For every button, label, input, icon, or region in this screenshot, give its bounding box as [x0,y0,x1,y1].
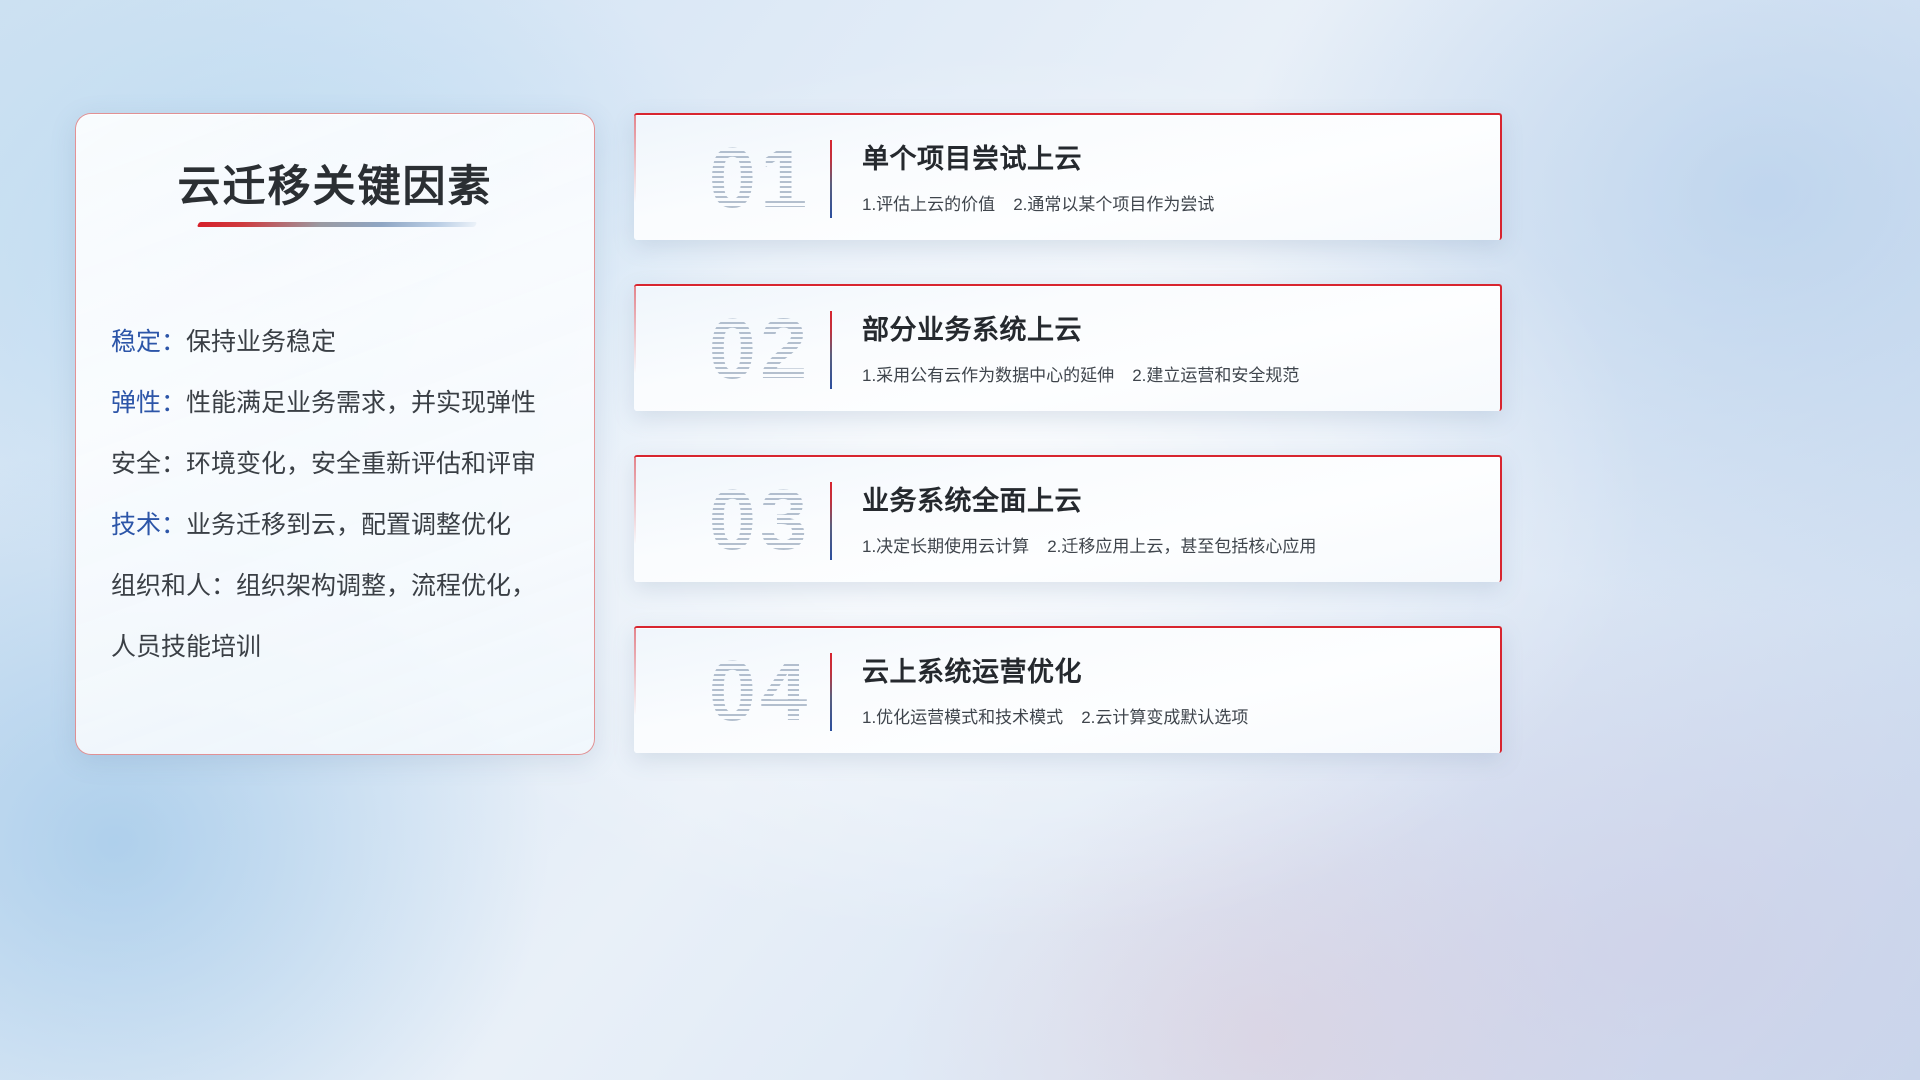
factor-text: 人员技能培训 [111,633,261,661]
stage-number-ghost: 02 [662,292,858,408]
card-divider [830,311,832,389]
page-title: 云迁移关键因素 [76,152,594,214]
card-point-2: 2.建立运营和安全规范 [1132,366,1299,385]
stage-card-04[interactable]: 04 云上系统运营优化 1.优化运营模式和技术模式2.云计算变成默认选项 [634,626,1502,753]
card-point-1: 1.采用公有云作为数据中心的延伸 [862,366,1114,385]
card-subtext: 1.评估上云的价值2.通常以某个项目作为尝试 [862,190,1476,215]
card-point-1: 1.评估上云的价值 [862,195,995,214]
factor-item: 人员技能培训 [111,617,572,678]
card-body: 云上系统运营优化 1.优化运营模式和技术模式2.云计算变成默认选项 [862,650,1476,728]
stage-number-ghost: 01 [662,121,858,237]
stage-card-03[interactable]: 03 业务系统全面上云 1.决定长期使用云计算2.迁移应用上云，甚至包括核心应用 [634,455,1502,582]
card-body: 业务系统全面上云 1.决定长期使用云计算2.迁移应用上云，甚至包括核心应用 [862,479,1476,557]
card-title: 云上系统运营优化 [862,650,1476,689]
factor-list: 稳定：保持业务稳定 弹性：性能满足业务需求，并实现弹性 安全：环境变化，安全重新… [111,312,572,678]
factor-key: 安全： [111,450,186,478]
factor-item: 技术：业务迁移到云，配置调整优化 [111,495,572,556]
card-subtext: 1.优化运营模式和技术模式2.云计算变成默认选项 [862,703,1476,728]
card-divider [830,482,832,560]
factor-text: 组织架构调整，流程优化， [236,572,536,600]
card-subtext: 1.采用公有云作为数据中心的延伸2.建立运营和安全规范 [862,361,1476,386]
card-title: 部分业务系统上云 [862,308,1476,347]
card-body: 部分业务系统上云 1.采用公有云作为数据中心的延伸2.建立运营和安全规范 [862,308,1476,386]
factor-item: 弹性：性能满足业务需求，并实现弹性 [111,373,572,434]
title-underline-rule [197,222,477,227]
card-body: 单个项目尝试上云 1.评估上云的价值2.通常以某个项目作为尝试 [862,137,1476,215]
card-title: 单个项目尝试上云 [862,137,1476,176]
card-divider [830,653,832,731]
card-title: 业务系统全面上云 [862,479,1476,518]
stage-card-02[interactable]: 02 部分业务系统上云 1.采用公有云作为数据中心的延伸2.建立运营和安全规范 [634,284,1502,411]
factor-text: 环境变化，安全重新评估和评审 [186,450,536,478]
factor-key: 组织和人： [111,572,236,600]
stage-card-list: 01 单个项目尝试上云 1.评估上云的价值2.通常以某个项目作为尝试 02 部分… [634,113,1502,797]
card-point-1: 1.决定长期使用云计算 [862,537,1029,556]
card-point-2: 2.迁移应用上云，甚至包括核心应用 [1047,537,1316,556]
card-point-2: 2.通常以某个项目作为尝试 [1013,195,1214,214]
factor-item: 安全：环境变化，安全重新评估和评审 [111,434,572,495]
factor-key: 技术： [111,511,186,539]
factor-text: 业务迁移到云，配置调整优化 [186,511,511,539]
card-divider [830,140,832,218]
factor-item: 组织和人：组织架构调整，流程优化， [111,556,572,617]
key-factors-panel: 云迁移关键因素 稳定：保持业务稳定 弹性：性能满足业务需求，并实现弹性 安全：环… [75,113,595,755]
stage-number-ghost: 03 [662,463,858,579]
card-point-2: 2.云计算变成默认选项 [1081,708,1248,727]
factor-item: 稳定：保持业务稳定 [111,312,572,373]
factor-text: 性能满足业务需求，并实现弹性 [186,389,536,417]
card-subtext: 1.决定长期使用云计算2.迁移应用上云，甚至包括核心应用 [862,532,1476,557]
factor-key: 稳定： [111,328,186,356]
factor-text: 保持业务稳定 [186,328,336,356]
card-point-1: 1.优化运营模式和技术模式 [862,708,1063,727]
factor-key: 弹性： [111,389,186,417]
stage-number-ghost: 04 [662,634,858,750]
stage-card-01[interactable]: 01 单个项目尝试上云 1.评估上云的价值2.通常以某个项目作为尝试 [634,113,1502,240]
slide-canvas: 云迁移关键因素 稳定：保持业务稳定 弹性：性能满足业务需求，并实现弹性 安全：环… [0,0,1920,1080]
